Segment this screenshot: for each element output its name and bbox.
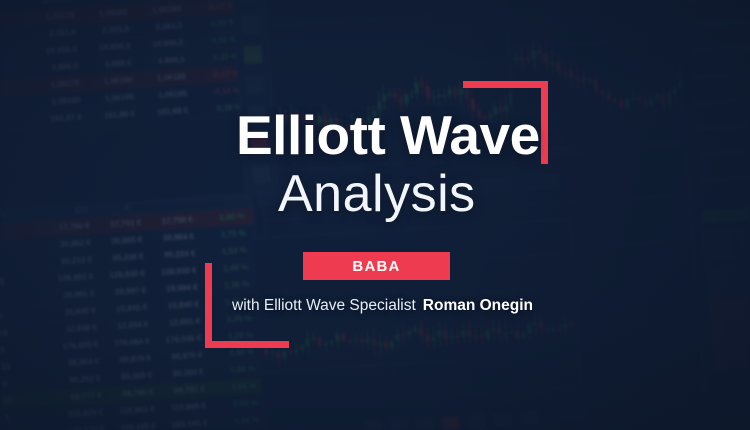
bracket-top-right-vertical [541,81,548,164]
bracket-bottom-left-vertical [205,263,212,348]
subtitle: with Elliott Wave SpecialistRoman Onegin [232,297,533,315]
page-title-line1: Elliott Wave [236,108,540,163]
specialist-name: Roman Onegin [423,297,533,314]
promo-banner: SYMBOLQTYBIDASKAKTUELL%84690014611.264,5… [0,0,750,430]
bracket-bottom-left-horizontal [205,341,289,348]
bracket-top-right-horizontal [463,81,548,88]
hero-content: Elliott Wave Analysis BABA with Elliott … [0,0,750,430]
subtitle-prefix: with Elliott Wave Specialist [232,297,416,314]
ticker-badge[interactable]: BABA [303,252,450,280]
page-title-line2: Analysis [278,168,476,220]
